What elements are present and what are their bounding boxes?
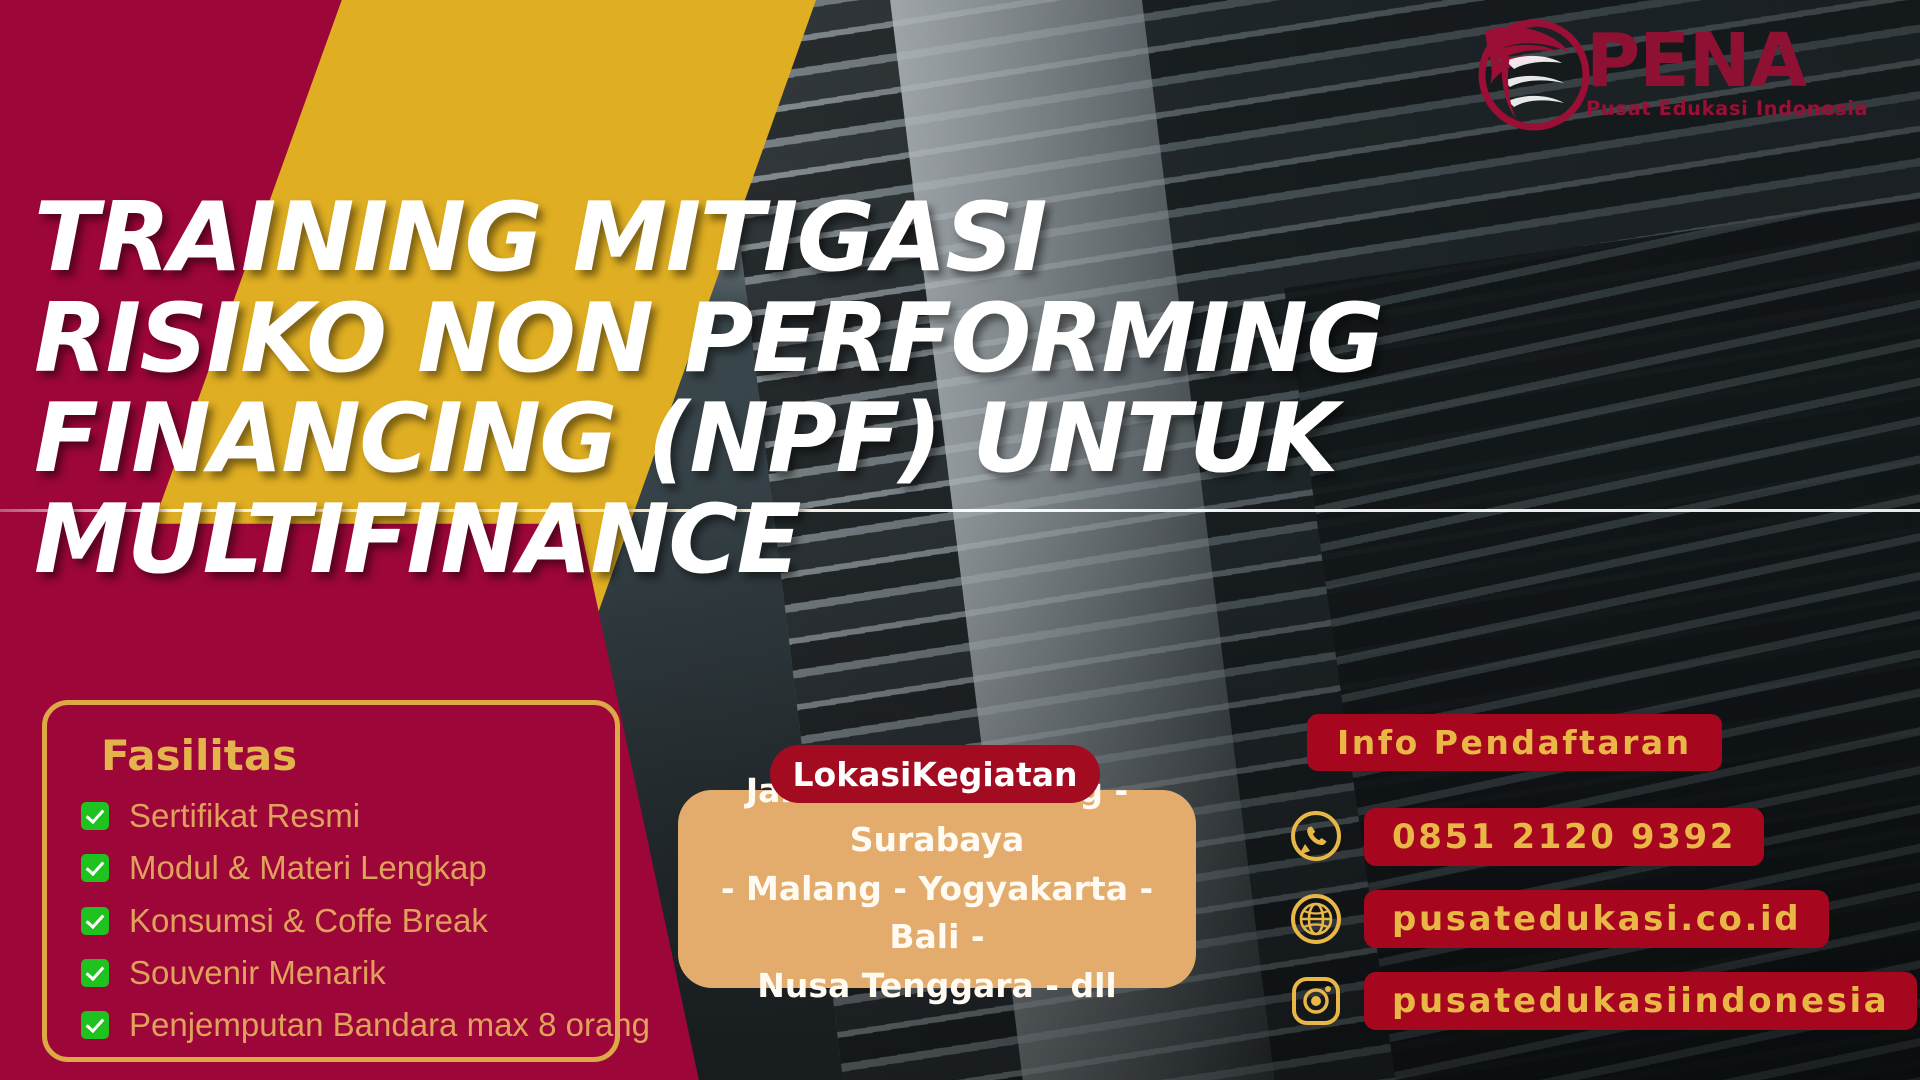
facility-label: Penjemputan Bandara max 8 orang [129,1007,650,1043]
location-text: Jakarata - Bandung - Surabaya - Malang -… [696,767,1178,1011]
instagram-handle[interactable]: pusatedukasiindonesia [1364,972,1917,1030]
list-item: Penjemputan Bandara max 8 orang [81,1007,589,1043]
headline-line-3: FINANCING (NPF) UNTUK [34,389,1894,490]
checkbox-checked-icon [81,854,109,882]
headline-line-4: MULTIFINANCE [34,490,1894,591]
facility-label: Modul & Materi Lengkap [129,850,487,886]
contact-row-website[interactable]: pusatedukasi.co.id [1290,890,1829,948]
checkbox-checked-icon [81,1011,109,1039]
pena-feather-icon [1466,9,1596,137]
pena-wordmark: PENA [1586,30,1886,94]
facility-label: Konsumsi & Coffe Break [129,903,488,939]
facilities-list: Sertifikat Resmi Modul & Materi Lengkap … [81,798,589,1043]
checkbox-checked-icon [81,802,109,830]
instagram-icon[interactable] [1290,975,1342,1027]
list-item: Sertifikat Resmi [81,798,589,834]
contact-row-whatsapp[interactable]: 0851 2120 9392 [1290,808,1764,866]
info-pendaftaran-badge: Info Pendaftaran [1307,714,1722,771]
location-line-2: - Malang - Yogyakarta - Bali - [721,869,1153,957]
checkbox-checked-icon [81,959,109,987]
list-item: Souvenir Menarik [81,955,589,991]
headline-line-2: RISIKO NON PERFORMING [34,289,1894,390]
headline: TRAINING MITIGASI RISIKO NON PERFORMING … [34,188,1894,591]
facilities-title: Fasilitas [101,731,589,780]
whatsapp-number[interactable]: 0851 2120 9392 [1364,808,1764,866]
headline-line-1: TRAINING MITIGASI [34,188,1894,289]
list-item: Konsumsi & Coffe Break [81,903,589,939]
pena-tagline: Pusat Edukasi Indonesia [1586,97,1886,120]
website-url[interactable]: pusatedukasi.co.id [1364,890,1829,948]
facility-label: Souvenir Menarik [129,955,386,991]
globe-icon[interactable] [1290,893,1342,945]
poster-canvas: PENA Pusat Edukasi Indonesia TRAINING MI… [0,0,1920,1080]
facility-label: Sertifikat Resmi [129,798,360,834]
whatsapp-icon[interactable] [1290,811,1342,863]
checkbox-checked-icon [81,907,109,935]
pena-logo: PENA Pusat Edukasi Indonesia [1466,8,1886,138]
contact-row-instagram[interactable]: pusatedukasiindonesia [1290,972,1917,1030]
location-box: Jakarata - Bandung - Surabaya - Malang -… [678,790,1196,988]
facilities-box: Fasilitas Sertifikat Resmi Modul & Mater… [42,700,620,1062]
location-line-3: Nusa Tenggara - dll [757,966,1117,1005]
location-pill-label: LokasiKegiatan [770,745,1100,803]
pena-logo-text: PENA Pusat Edukasi Indonesia [1586,26,1886,120]
list-item: Modul & Materi Lengkap [81,850,589,886]
